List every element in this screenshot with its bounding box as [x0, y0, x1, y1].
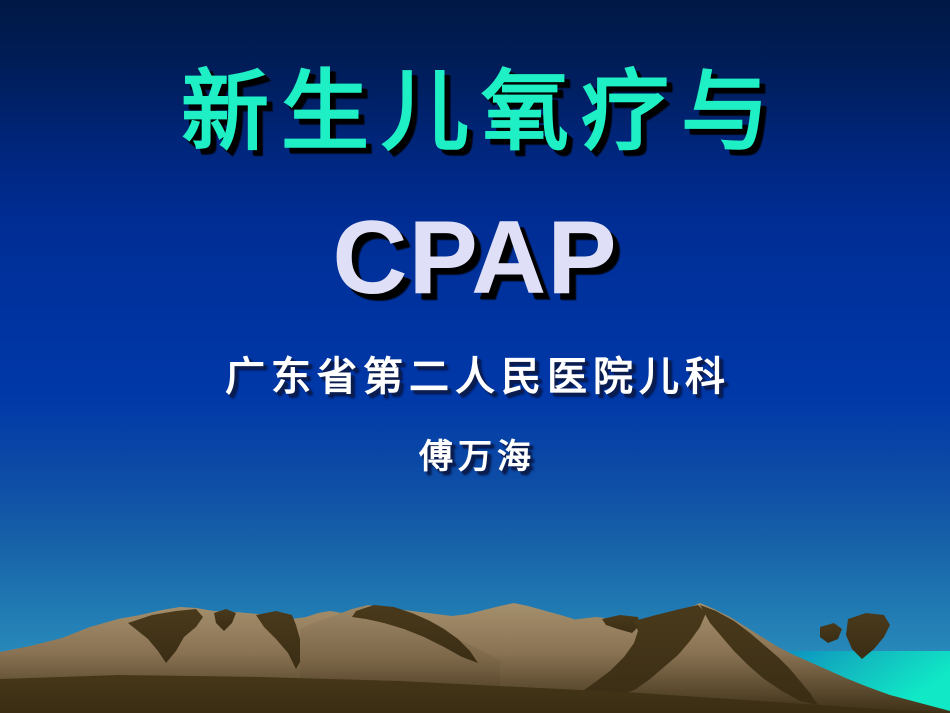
page-title-acronym: CPAP: [0, 206, 950, 310]
page-title-chinese: 新生儿氧疗与: [0, 68, 950, 156]
author-name: 傅万海: [0, 440, 950, 474]
title-slide: 新生儿氧疗与 CPAP 广东省第二人民医院儿科 傅万海: [0, 0, 950, 713]
organization-subtitle: 广东省第二人民医院儿科: [0, 357, 950, 397]
text-layer: 新生儿氧疗与 CPAP 广东省第二人民医院儿科 傅万海: [0, 0, 950, 713]
